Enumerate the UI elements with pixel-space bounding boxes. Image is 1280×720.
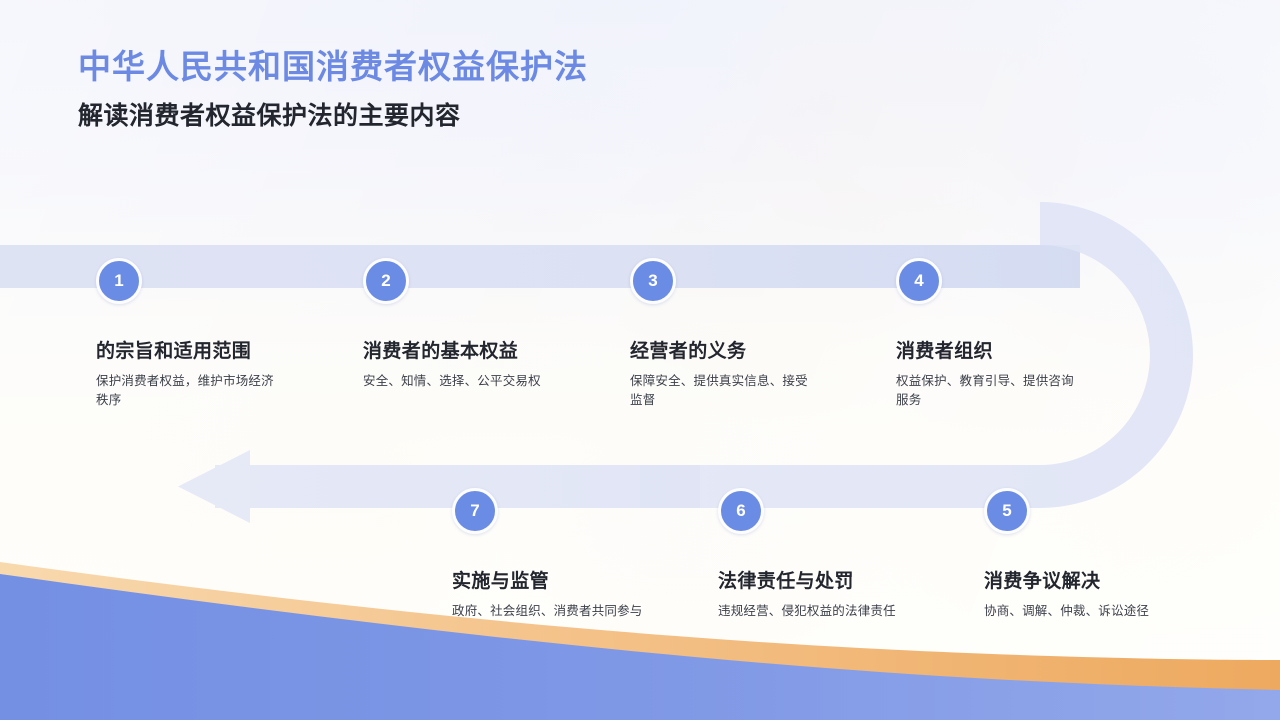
page-title: 中华人民共和国消费者权益保护法 bbox=[78, 46, 588, 87]
step-item-1[interactable]: 1 的宗旨和适用范围 保护消费者权益，维护市场经济 秩序 bbox=[96, 258, 326, 411]
step-description: 保障安全、提供真实信息、接受 监督 bbox=[630, 372, 860, 411]
step-title: 经营者的义务 bbox=[630, 336, 860, 363]
background-blob bbox=[760, 0, 1090, 260]
step-title: 的宗旨和适用范围 bbox=[96, 336, 326, 363]
step-description: 权益保护、教育引导、提供咨询 服务 bbox=[896, 372, 1126, 411]
step-number-badge: 5 bbox=[984, 488, 1030, 534]
step-number-badge: 6 bbox=[718, 488, 764, 534]
slide-canvas: 中华人民共和国消费者权益保护法 解读消费者权益保护法的主要内容 1 的宗旨和适用 bbox=[0, 0, 1280, 720]
slide-header: 中华人民共和国消费者权益保护法 解读消费者权益保护法的主要内容 bbox=[78, 46, 588, 133]
step-item-2[interactable]: 2 消费者的基本权益 安全、知情、选择、公平交易权 bbox=[363, 258, 593, 391]
step-item-4[interactable]: 4 消费者组织 权益保护、教育引导、提供咨询 服务 bbox=[896, 258, 1126, 411]
step-number-badge: 4 bbox=[896, 258, 942, 304]
step-number-badge: 1 bbox=[96, 258, 142, 304]
step-title: 消费者的基本权益 bbox=[363, 336, 593, 363]
step-description: 保护消费者权益，维护市场经济 秩序 bbox=[96, 372, 326, 411]
step-number-badge: 7 bbox=[452, 488, 498, 534]
bottom-wave-decoration bbox=[0, 560, 1280, 720]
step-description: 安全、知情、选择、公平交易权 bbox=[363, 372, 593, 391]
page-subtitle: 解读消费者权益保护法的主要内容 bbox=[78, 101, 588, 132]
step-title: 消费者组织 bbox=[896, 336, 1126, 363]
step-number-badge: 3 bbox=[630, 258, 676, 304]
step-item-3[interactable]: 3 经营者的义务 保障安全、提供真实信息、接受 监督 bbox=[630, 258, 860, 411]
step-number-badge: 2 bbox=[363, 258, 409, 304]
